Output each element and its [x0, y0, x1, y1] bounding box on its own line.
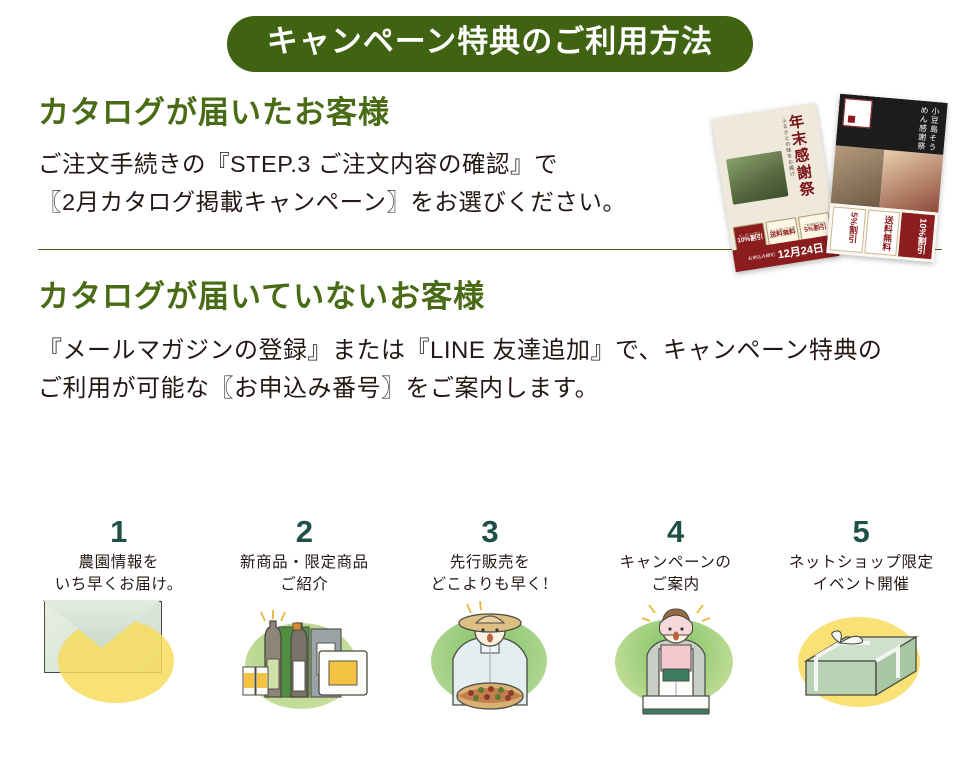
catalog-b-coupons: 5%割引 送料無料 10%割引 [826, 203, 938, 262]
coupon-value: 送料無料 [770, 230, 797, 240]
farmer-shape [423, 601, 557, 721]
catalog-a-photo [726, 151, 789, 205]
benefit-text: 新商品・限定商品 ご紹介 [240, 551, 369, 595]
catalog-a-top: 年末感謝祭 ふるさとの味をお届け [712, 103, 833, 226]
coupon-value: 送料無料 [880, 215, 896, 252]
coupon-value: 5%割引 [846, 212, 862, 244]
coupon-value: 10%割引 [737, 235, 764, 245]
benefit-item-1: 1 農園情報を いち早くお届け。 [26, 516, 212, 768]
benefit-number: 4 [667, 516, 684, 547]
benefit-line-2: ご紹介 [240, 573, 369, 595]
coupon-value: 5%割引 [804, 225, 827, 235]
bottles-shape [235, 609, 373, 714]
catalog-images: 年末感謝祭 ふるさとの味をお届け クーポンで使う 10%割引 まとめ買いでお得 … [705, 90, 970, 290]
catalog-a-date: 12月24日 [777, 239, 825, 262]
envelope-icon [44, 601, 194, 721]
benefit-text: キャンペーンの ご案内 [620, 551, 732, 595]
benefit-item-5: 5 ネットショップ限定 イベント開催 [768, 516, 954, 768]
gift-box-icon [786, 601, 936, 721]
benefit-text: ネットショップ限定 イベント開催 [789, 551, 934, 595]
catalog-inner-page-image: 小豆島そうめん感謝祭 5%割引 送料無料 10%割引 [826, 94, 948, 263]
woman-banner-icon [601, 601, 751, 721]
benefit-line-1: 先行販売を [431, 551, 550, 573]
coupon-item: 送料無料 [864, 209, 900, 256]
benefit-line-1: 新商品・限定商品 [240, 551, 369, 573]
catalog-b-photo-left [831, 145, 885, 207]
catalog-b-header: 小豆島そうめん感謝祭 [836, 94, 948, 155]
section-catalog-not-received: カタログが届いていないお客様 『メールマガジンの登録』または『LINE 友達追加… [0, 278, 980, 409]
bottles-icon [229, 601, 379, 721]
benefit-item-4: 4 キャンペーンの ご案内 [583, 516, 769, 768]
catalog-b-seal [842, 98, 872, 128]
header-badge-container: キャンペーン特典のご利用方法 [0, 0, 980, 72]
catalog-front-cover-image: 年末感謝祭 ふるさとの味をお届け クーポンで使う 10%割引 まとめ買いでお得 … [712, 103, 840, 273]
benefit-line-2: ご案内 [620, 573, 732, 595]
farmer-icon [415, 601, 565, 721]
benefit-text: 農園情報を いち早くお届け。 [55, 551, 183, 595]
benefit-line-1: キャンペーンの [620, 551, 732, 573]
catalog-b-title: 小豆島そうめん感謝祭 [915, 106, 941, 155]
benefit-number: 1 [110, 516, 127, 547]
coupon-item: 10%割引 [899, 212, 935, 259]
catalog-b-photos [831, 145, 944, 212]
benefit-line-2: いち早くお届け。 [55, 573, 183, 595]
coupon-value: 10%割引 [915, 218, 931, 255]
benefit-item-3: 3 先行販売を どこよりも早く! [397, 516, 583, 768]
campaign-header-badge: キャンペーン特典のご利用方法 [227, 16, 753, 72]
benefit-line-2: イベント開催 [789, 573, 934, 595]
benefit-number: 2 [296, 516, 313, 547]
coupon-item: 5%割引 [829, 206, 865, 253]
benefits-list: 1 農園情報を いち早くお届け。 2 新商品・限定商品 ご紹介 [0, 516, 980, 768]
benefit-line-1: 農園情報を [55, 551, 183, 573]
benefit-line-1: ネットショップ限定 [789, 551, 934, 573]
gift-box-shape [792, 617, 930, 711]
catalog-a-date-note: お申込み締切 [748, 252, 776, 262]
benefit-number: 5 [853, 516, 870, 547]
benefit-item-2: 2 新商品・限定商品 ご紹介 [212, 516, 398, 768]
benefit-line-2: どこよりも早く! [431, 573, 550, 595]
benefit-text: 先行販売を どこよりも早く! [431, 551, 550, 595]
section2-body-line-2: ご利用が可能な〖お申込み番号〗をご案内します。 [38, 370, 942, 409]
woman-shape [615, 601, 737, 723]
catalog-b-photo-right [879, 150, 943, 213]
section2-body-line-1: 『メールマガジンの登録』または『LINE 友達追加』で、キャンペーン特典の [38, 332, 942, 371]
benefit-number: 3 [481, 516, 498, 547]
